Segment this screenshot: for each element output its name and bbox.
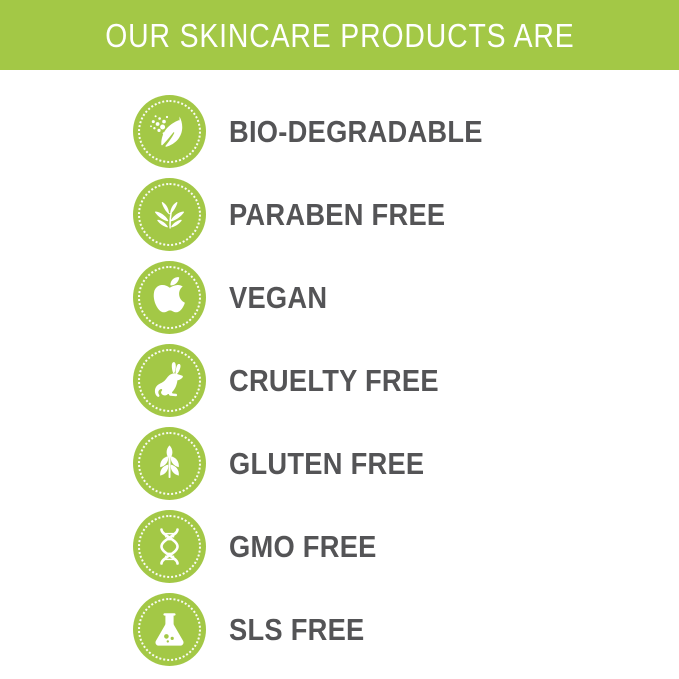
rabbit-icon [145, 356, 194, 405]
wheat-stalk-icon [145, 439, 194, 488]
claim-label: BIO-DEGRADABLE [229, 116, 483, 147]
list-item: BIO-DEGRADABLE [133, 95, 653, 168]
leaves-sprig-icon [145, 190, 194, 239]
claim-label: SLS FREE [229, 614, 365, 645]
claims-list: BIO-DEGRADABLE [0, 70, 679, 679]
claim-badge [133, 261, 206, 334]
list-item: GMO FREE [133, 510, 653, 583]
claim-label: PARABEN FREE [229, 199, 445, 230]
apple-icon [145, 273, 194, 322]
claim-badge [133, 427, 206, 500]
claim-label: GMO FREE [229, 531, 377, 562]
claim-badge [133, 593, 206, 666]
list-item: PARABEN FREE [133, 178, 653, 251]
dna-helix-icon [145, 522, 194, 571]
list-item: CRUELTY FREE [133, 344, 653, 417]
list-item: GLUTEN FREE [133, 427, 653, 500]
page-title: OUR SKINCARE PRODUCTS ARE [105, 19, 574, 52]
claim-badge [133, 344, 206, 417]
infographic-page: OUR SKINCARE PRODUCTS ARE [0, 0, 679, 679]
list-item: SLS FREE [133, 593, 653, 666]
claim-badge [133, 178, 206, 251]
flask-icon [145, 605, 194, 654]
list-item: VEGAN [133, 261, 653, 334]
header-banner: OUR SKINCARE PRODUCTS ARE [0, 0, 679, 70]
claim-badge [133, 510, 206, 583]
claim-badge [133, 95, 206, 168]
dissolving-leaf-icon [145, 107, 194, 156]
claim-label: VEGAN [229, 282, 327, 313]
claim-label: GLUTEN FREE [229, 448, 424, 479]
claim-label: CRUELTY FREE [229, 365, 439, 396]
